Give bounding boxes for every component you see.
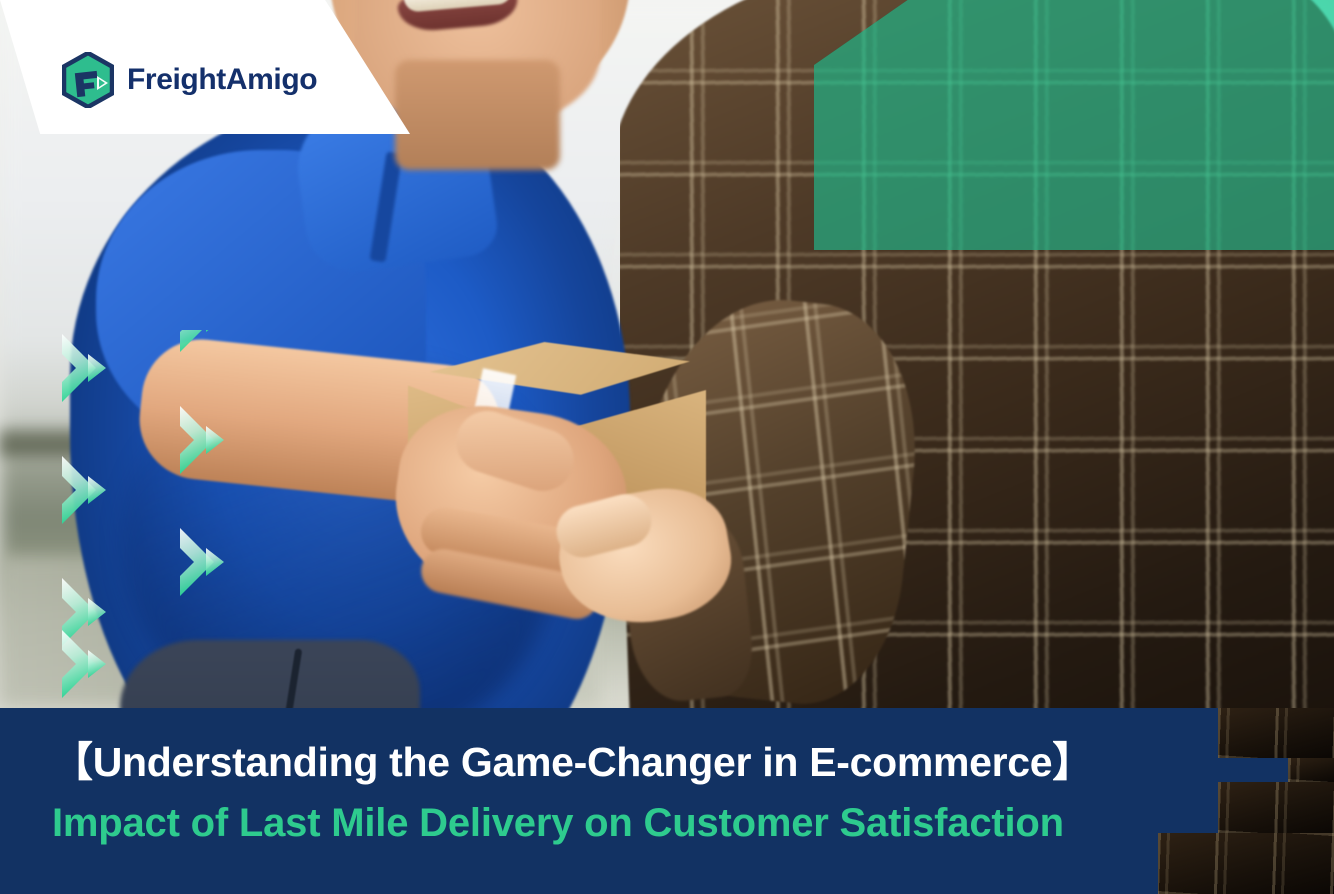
green-wedge-overlay-tint xyxy=(814,0,1334,250)
brand-logo[interactable]: FreightAmigo xyxy=(62,52,317,108)
f-cutout-segment-top xyxy=(1218,708,1334,758)
f-cutout-segment-bottom xyxy=(1158,833,1334,894)
freightamigo-hexagon-logo-icon xyxy=(62,52,114,108)
banner-title: 【Understanding the Game-Changer in E-com… xyxy=(52,738,1172,786)
banner-subtitle: Impact of Last Mile Delivery on Customer… xyxy=(52,800,1172,847)
chevron-right-icon-group xyxy=(0,330,294,730)
letter-f-cutout xyxy=(1158,708,1334,894)
hero-banner-image: FreightAmigo 【Understanding the Game-Cha… xyxy=(0,0,1334,894)
courier-neck xyxy=(395,60,560,170)
brand-name: FreightAmigo xyxy=(127,65,317,95)
f-cutout-segment-notch xyxy=(1288,758,1334,782)
chevron-pattern xyxy=(0,330,294,730)
f-cutout-segment-middle xyxy=(1218,782,1334,833)
